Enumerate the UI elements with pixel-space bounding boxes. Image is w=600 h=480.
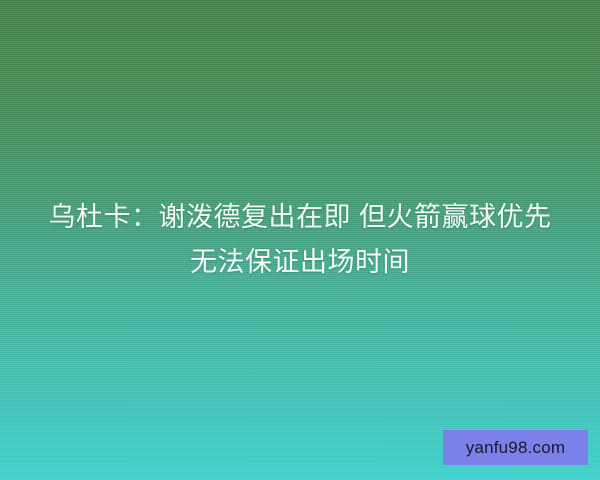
watermark-badge: yanfu98.com (443, 430, 588, 465)
news-card: 乌杜卡：谢泼德复出在即 但火箭赢球优先无法保证出场时间 yanfu98.com (0, 0, 600, 480)
headline-container: 乌杜卡：谢泼德复出在即 但火箭赢球优先无法保证出场时间 (0, 0, 600, 480)
headline-text: 乌杜卡：谢泼德复出在即 但火箭赢球优先无法保证出场时间 (38, 195, 562, 285)
watermark-label: yanfu98.com (466, 439, 566, 456)
